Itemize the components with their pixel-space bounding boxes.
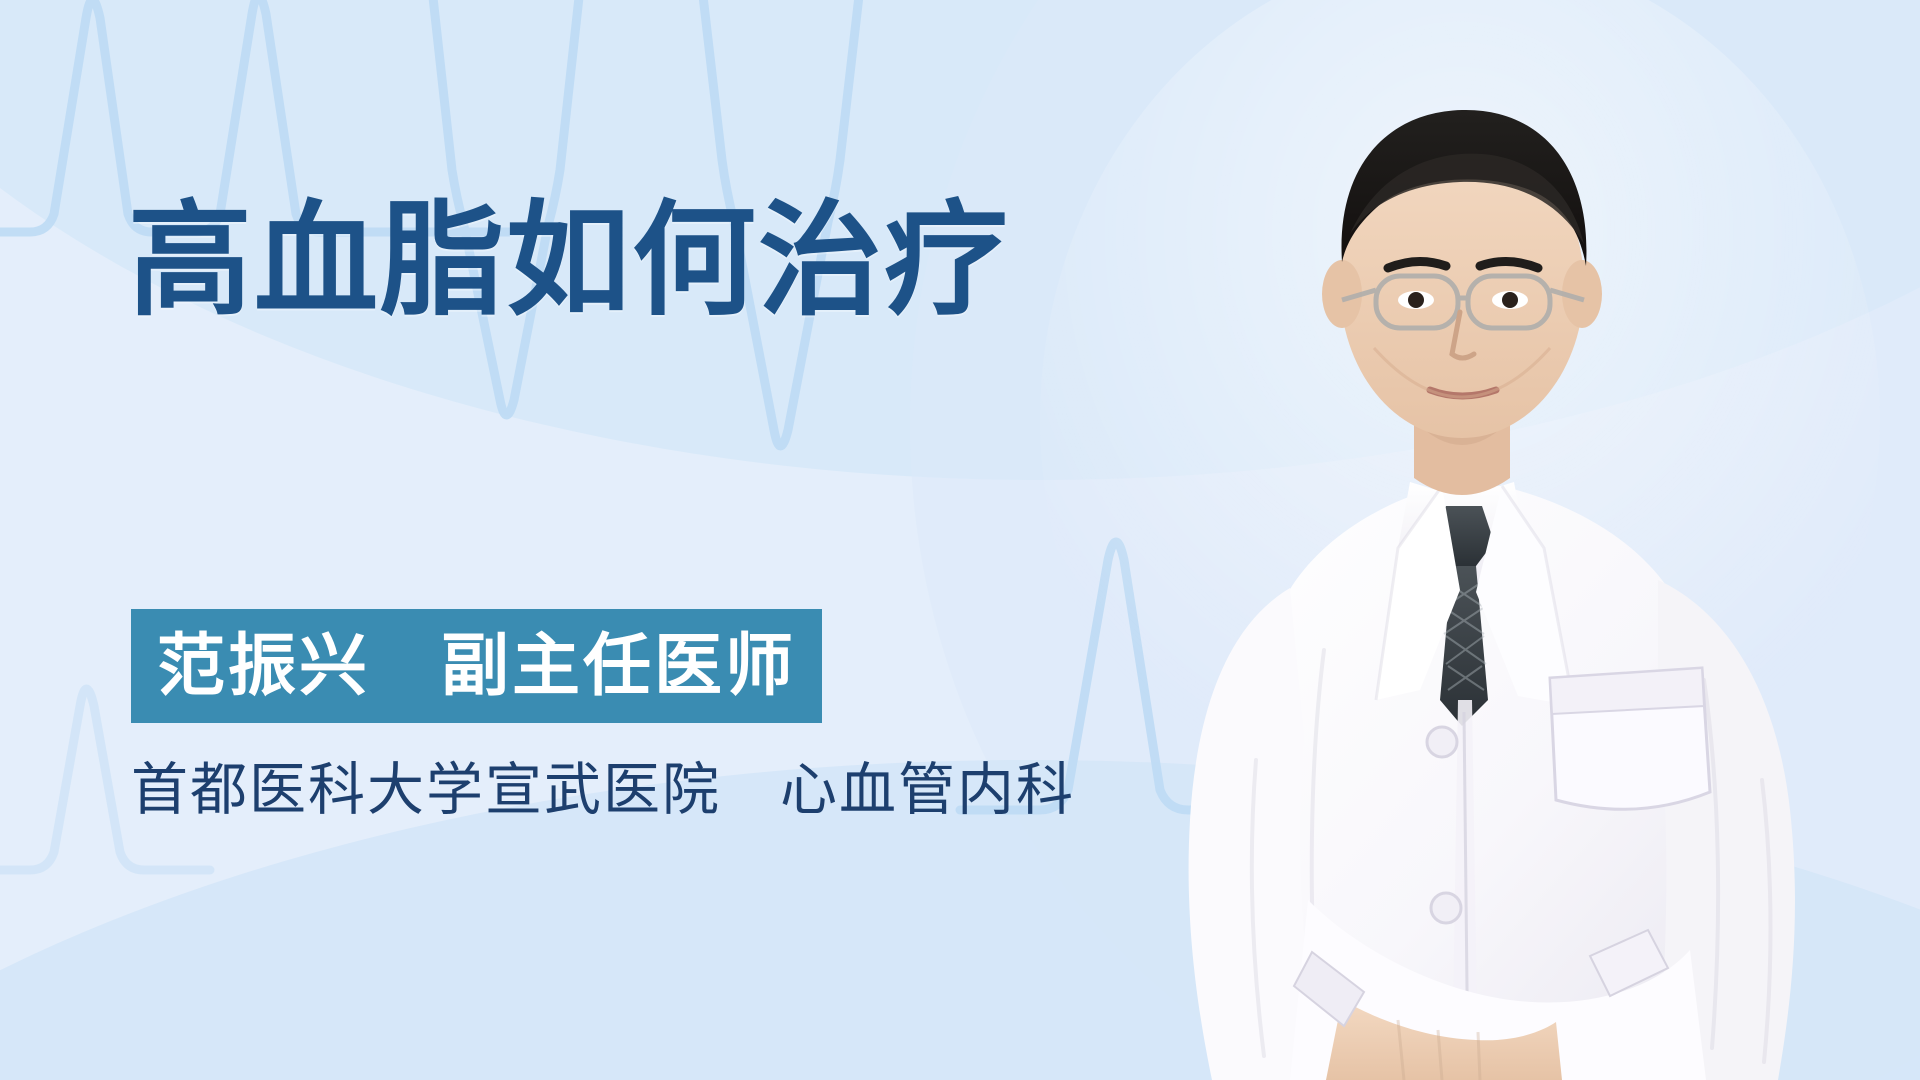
page-title: 高血脂如何治疗 xyxy=(128,192,1010,331)
speaker-affiliation: 首都医科大学宣武医院 心血管内科 xyxy=(131,757,1075,824)
speaker-badge-label: 范振兴 副主任医师 xyxy=(157,632,796,700)
doctor-portrait-icon xyxy=(990,0,1920,1080)
cover-canvas: 高血脂如何治疗 范振兴 副主任医师 首都医科大学宣武医院 心血管内科 xyxy=(0,0,1920,1080)
speaker-badge: 范振兴 副主任医师 xyxy=(131,609,822,723)
